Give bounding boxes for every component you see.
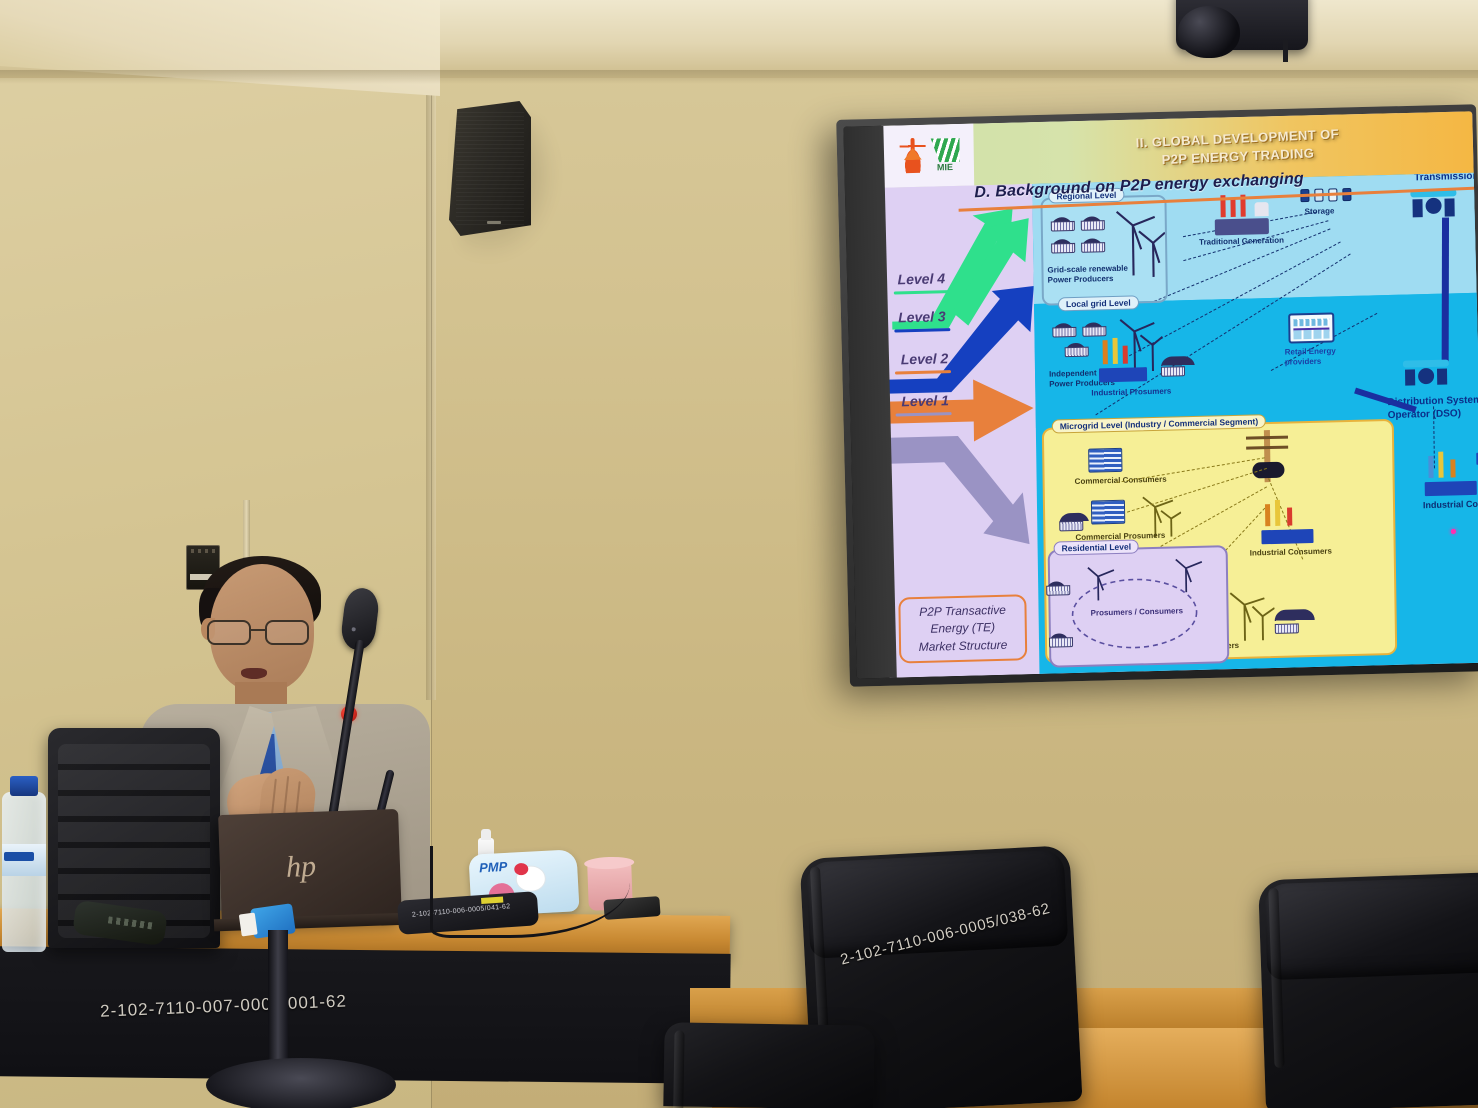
plant-body: [1215, 218, 1269, 235]
tso-substation-icon: [1410, 189, 1456, 220]
tower-part: [1403, 360, 1449, 368]
slide: MIE II. GLOBAL DEVELOPMENT OF P2P ENERGY…: [881, 111, 1478, 677]
solar-panel-icon: [1275, 609, 1315, 634]
levels-panel: Level 4 Level 3 Level 2 Level 1 P2P Tran…: [882, 184, 1039, 678]
plant-body: [1099, 367, 1147, 382]
building-windows: [1293, 319, 1329, 327]
ceiling-speaker-icon: [1176, 0, 1308, 50]
retail-energy-providers-label: Retail Energy providers: [1285, 346, 1355, 368]
eyeglasses-icon: [207, 620, 313, 646]
solar-panel-icon: [1059, 513, 1089, 532]
slide-header-title: II. GLOBAL DEVELOPMENT OF P2P ENERGY TRA…: [973, 119, 1478, 178]
level-4-label: Level 4: [897, 270, 945, 287]
storage-label: Storage: [1305, 206, 1335, 217]
level-3-label: Level 3: [898, 308, 946, 325]
dso-substation-icon: [1403, 360, 1449, 391]
residential-level-label: Residential Level: [1054, 539, 1140, 555]
industrial-consumers-label: Industrial Consumers: [1250, 547, 1332, 559]
solar-panel-icon: [1161, 356, 1195, 377]
chimney: [1123, 346, 1128, 364]
local-grid-level-label: Local grid Level: [1058, 295, 1139, 311]
desk-front-panel: 2-102-7110-007-0005/001-62: [0, 946, 731, 1084]
spray-nozzle: [481, 829, 491, 840]
desk-asset-tag: 2-102-7110-007-0005/001-62: [100, 991, 347, 1021]
tso-label-text: Transmission System Operator (TSO): [1414, 172, 1478, 183]
retail-energy-building-icon: [1288, 312, 1334, 343]
commercial-prosumers-icon: [1091, 500, 1125, 525]
mie-logo-bars: [930, 138, 960, 163]
ceiling-edge-shadow: [0, 70, 1478, 84]
cooling-tower: [1255, 202, 1269, 216]
transmission-line: [1442, 218, 1449, 364]
presentation-display[interactable]: MIE II. GLOBAL DEVELOPMENT OF P2P ENERGY…: [836, 104, 1478, 686]
mie-logo: MIE: [930, 138, 960, 173]
audience-chair[interactable]: [1258, 872, 1478, 1108]
plant-body: [1425, 481, 1477, 496]
mic-indicator: [351, 627, 355, 631]
level-1-label: Level 1: [901, 392, 949, 409]
chair-headrest: [1264, 876, 1478, 980]
speaker-grill: [456, 112, 525, 225]
te-market-structure-box: P2P Transactive Energy (TE) Market Struc…: [898, 594, 1027, 663]
display-screen: MIE II. GLOBAL DEVELOPMENT OF P2P ENERGY…: [843, 111, 1478, 678]
laptop[interactable]: hp: [218, 809, 402, 925]
grid-scale-producers-label: Grid-scale renewable Power Producers: [1047, 263, 1139, 285]
remote-buttons: [108, 916, 153, 929]
chimney: [1230, 199, 1235, 217]
chimney: [1275, 500, 1280, 526]
p2p-network-diagram: Regional Level Grid-scale renewable Po: [1032, 172, 1478, 674]
industrial-consumers-icon: [1261, 499, 1320, 544]
tower-part: [1425, 198, 1441, 214]
lens-right: [265, 620, 309, 645]
plant-body: [1261, 529, 1313, 544]
tso-label: Transmission System Operator (TSO): [1414, 172, 1478, 185]
lens-left: [207, 620, 251, 645]
commercial-consumers-icon: [1088, 448, 1122, 473]
mouth: [241, 668, 267, 679]
mie-logo-text: MIE: [937, 163, 953, 172]
chimney: [1450, 459, 1455, 477]
chimney: [1287, 508, 1292, 526]
industrial-consumers-label-right: Industrial Consumers: [1423, 498, 1478, 512]
building-doors: [1293, 330, 1329, 340]
industrial-prosumers-icon: [1099, 337, 1156, 382]
wall-speaker-icon: [449, 101, 531, 236]
traditional-generation-label: Traditional Generation: [1199, 236, 1284, 248]
speaker-dome: [1178, 6, 1240, 58]
te-box-line1: P2P Transactive: [902, 601, 1022, 621]
status-blip: [1447, 525, 1459, 537]
chair-seam: [671, 1030, 684, 1108]
chimney: [1438, 452, 1443, 478]
glasses-bridge: [251, 629, 265, 631]
chimney: [1103, 340, 1108, 364]
speaker-badge: [487, 221, 501, 224]
chimney: [1113, 338, 1118, 364]
tower-part: [1418, 368, 1434, 384]
industrial-prosumers-label: Industrial Prosumers: [1091, 387, 1171, 399]
slide-logos: MIE: [881, 123, 974, 187]
tower-part: [1412, 199, 1422, 217]
te-box-line3: Market Structure: [903, 636, 1023, 656]
tower-part: [1405, 369, 1415, 385]
hp-logo: hp: [285, 850, 316, 885]
tower-part: [1444, 198, 1454, 216]
floor-mic-stand-base: [206, 1058, 396, 1108]
chimney: [1428, 456, 1433, 478]
level-2-label: Level 2: [901, 350, 949, 367]
audience-chair[interactable]: [663, 1022, 874, 1108]
bottle-cap: [10, 776, 38, 796]
panel-screws: [191, 549, 217, 553]
level-1-arrow: [888, 420, 1048, 560]
thai-emblem-logo: [900, 139, 926, 174]
speaker-mount-arm: [1283, 40, 1288, 62]
wind-turbine-icon: [1228, 590, 1275, 643]
bottle-label: [2, 844, 46, 876]
chimney: [1265, 504, 1270, 526]
industrial-consumers-icon-right: [1424, 451, 1478, 496]
water-bottle-icon[interactable]: [2, 792, 46, 952]
tower-part: [1437, 369, 1447, 385]
conference-room-scene: MIE II. GLOBAL DEVELOPMENT OF P2P ENERGY…: [0, 0, 1478, 1108]
